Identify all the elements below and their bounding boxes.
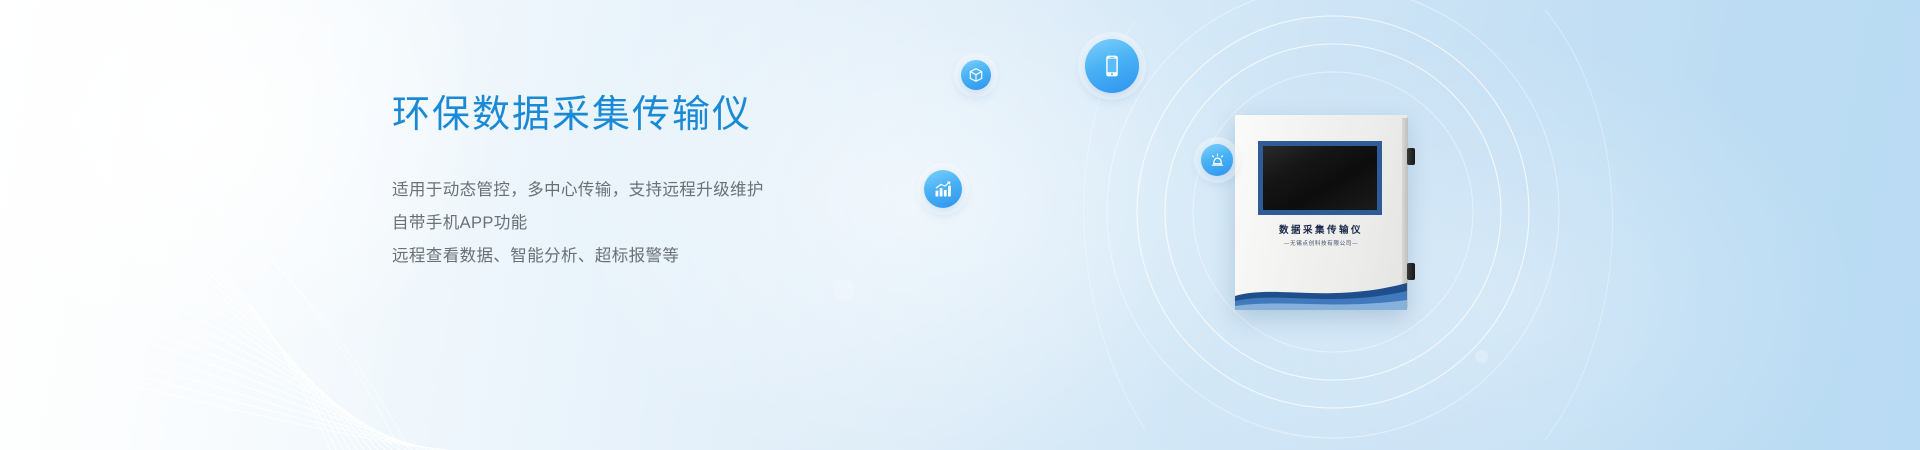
page-title: 环保数据采集传输仪 [392,92,912,140]
subtitle-line-3: 远程查看数据、智能分析、超标报警等 [392,240,912,273]
product-graphic: 数据采集传输仪 —无锡点创科技有限公司— [1075,0,1775,450]
device-screen-frame [1258,141,1382,215]
device-company-label: —无锡点创科技有限公司— [1235,239,1407,247]
device-screen [1263,146,1377,210]
device-bottom-wave [1235,270,1407,310]
subtitle-line-2: 自带手机APP功能 [392,207,912,240]
cube-icon[interactable] [961,60,991,90]
orbit-rings [1075,0,1775,450]
phone-icon[interactable] [1085,39,1139,93]
device-name-label: 数据采集传输仪 [1235,222,1407,236]
subtitle-line-1: 适用于动态管控，多中心传输，支持远程升级维护 [392,174,912,207]
hero-text-column: 环保数据采集传输仪 适用于动态管控，多中心传输，支持远程升级维护 自带手机APP… [392,92,912,273]
hero-banner: 环保数据采集传输仪 适用于动态管控，多中心传输，支持远程升级维护 自带手机APP… [0,0,1920,450]
device-illustration: 数据采集传输仪 —无锡点创科技有限公司— [1235,115,1425,310]
device-connector-top [1407,148,1415,165]
bubble-decor [833,279,855,301]
alarm-icon[interactable] [1201,144,1233,176]
bubble-decor [92,216,106,230]
device-connector-bottom [1407,263,1415,280]
chart-icon[interactable] [924,170,962,208]
